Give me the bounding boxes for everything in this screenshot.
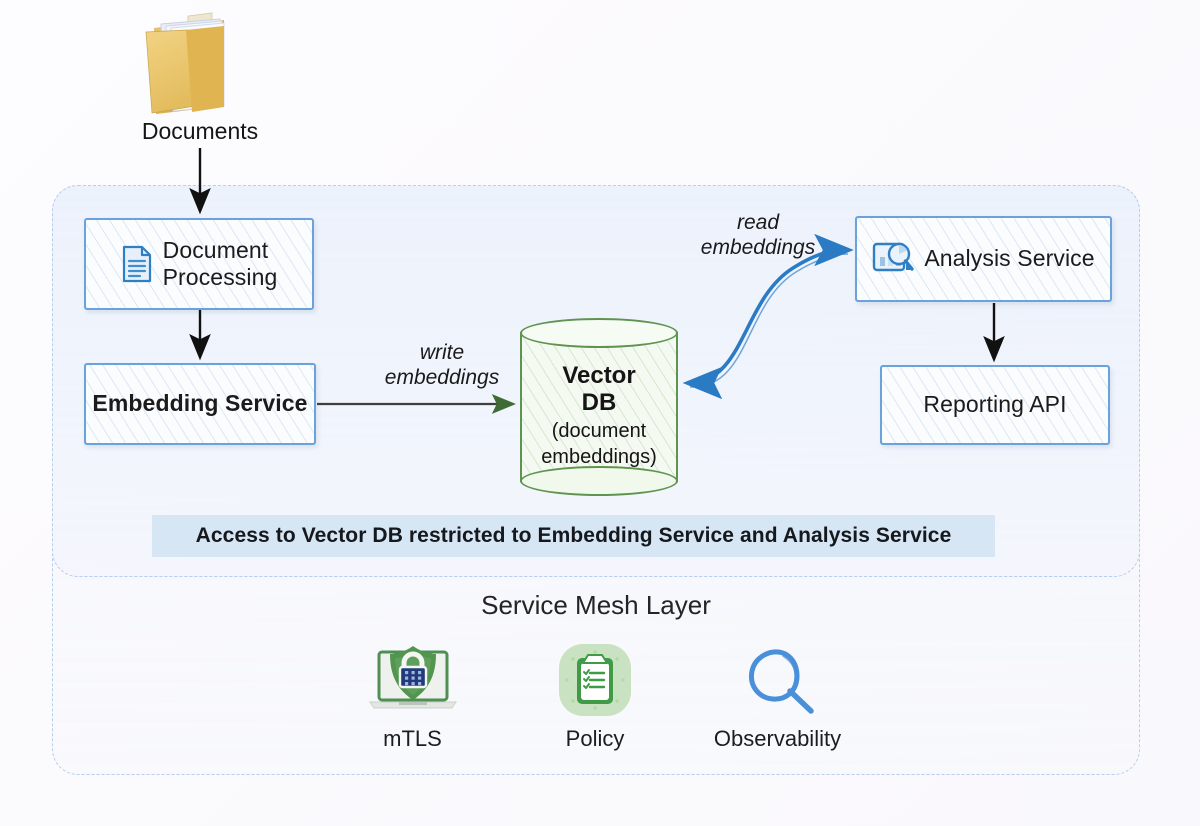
node-embedding-service[interactable]: Embedding Service (84, 363, 316, 445)
document-file-icon (121, 245, 153, 283)
access-restriction-text: Access to Vector DB restricted to Embedd… (196, 524, 952, 548)
access-restriction-banner: Access to Vector DB restricted to Embedd… (152, 515, 995, 557)
node-analysis-service[interactable]: Analysis Service (855, 216, 1112, 302)
edge-label-read-embeddings: read embeddings (672, 210, 844, 260)
vector-db-sub-line1: (document (520, 420, 678, 443)
node-reporting-api[interactable]: Reporting API (880, 365, 1110, 445)
edge-label-read-line1: read (672, 210, 844, 235)
mesh-item-policy[interactable]: Policy (513, 640, 678, 752)
node-label-document-processing: Document Processing (163, 237, 278, 291)
service-mesh-feature-row: mTLS (330, 640, 860, 760)
arrow-vector-db-to-analysis-service (688, 250, 848, 387)
node-label-line1: Document (163, 237, 278, 264)
mesh-item-observability[interactable]: Observability (695, 640, 860, 752)
mesh-label-observability: Observability (714, 726, 841, 752)
mesh-label-mtls: mTLS (383, 726, 442, 752)
mesh-item-mtls[interactable]: mTLS (330, 640, 495, 752)
chart-magnifier-icon (872, 240, 914, 278)
mesh-label-policy: Policy (566, 726, 625, 752)
node-label-line2: Processing (163, 264, 278, 291)
vector-db-sub-line2: embeddings) (520, 446, 678, 469)
clipboard-checklist-icon (557, 640, 633, 720)
cylinder-top-ellipse (520, 318, 678, 348)
magnifying-glass-icon (737, 640, 819, 720)
edge-label-write-line1: write (362, 340, 522, 365)
node-label-analysis-service: Analysis Service (924, 245, 1094, 272)
edge-label-write-line2: embeddings (362, 365, 522, 390)
node-label-reporting-api: Reporting API (923, 391, 1066, 418)
node-document-processing[interactable]: Document Processing (84, 218, 314, 310)
node-label-vector-db: Vector DB (document embeddings) (520, 362, 678, 468)
edge-label-read-line2: embeddings (672, 235, 844, 260)
laptop-shield-lock-icon (366, 640, 460, 720)
service-mesh-layer-title: Service Mesh Layer (52, 590, 1140, 621)
vector-db-title-line1: Vector (520, 362, 678, 389)
vector-db-title-line2: DB (520, 389, 678, 416)
cylinder-bottom-ellipse (520, 466, 678, 496)
edge-label-write-embeddings: write embeddings (362, 340, 522, 390)
node-vector-db[interactable]: Vector DB (document embeddings) (520, 318, 678, 496)
node-label-embedding-service: Embedding Service (92, 390, 307, 417)
diagram-canvas: Documents (0, 0, 1200, 826)
